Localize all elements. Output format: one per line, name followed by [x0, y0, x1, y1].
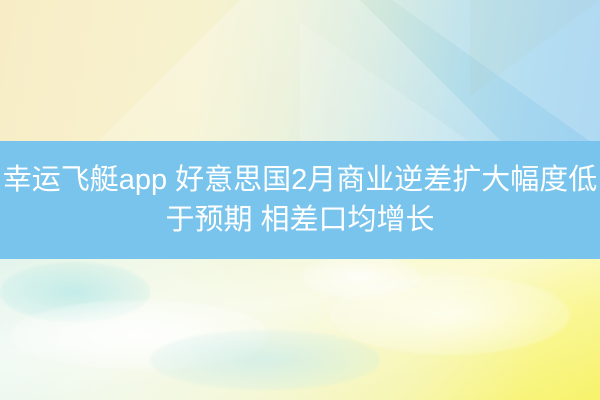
banner: 幸运飞艇app 好意思国2月商业逆差扩大幅度低 于预期 相差口均增长 — [0, 0, 600, 400]
triangle-facet-secondary-icon — [300, 22, 470, 142]
triangle-facet-tertiary-icon — [470, 0, 600, 96]
headline-band: 幸运飞艇app 好意思国2月商业逆差扩大幅度低 于预期 相差口均增长 — [0, 141, 600, 259]
headline-line-1: 幸运飞艇app 好意思国2月商业逆差扩大幅度低 — [3, 160, 598, 200]
triangle-facet-icon — [392, 0, 600, 150]
background-top-gradient — [0, 0, 600, 141]
headline-line-2: 于预期 相差口均增长 — [165, 200, 434, 240]
background-bottom-gradient — [0, 259, 600, 400]
